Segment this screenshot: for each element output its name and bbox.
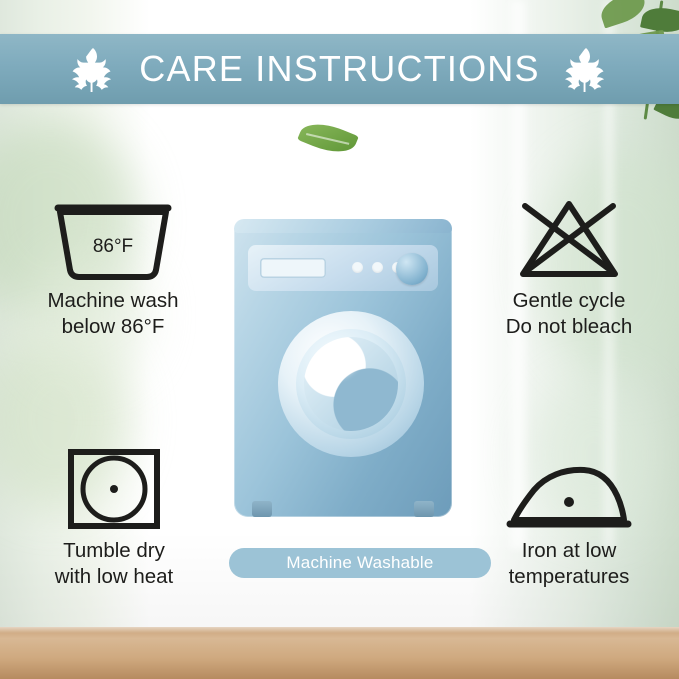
- washing-machine-illustration: [226, 205, 460, 535]
- care-item-tumble-dry: Tumble dry with low heat: [12, 446, 216, 590]
- washer-foot-left: [252, 501, 272, 517]
- care-item-do-not-bleach: Gentle cycle Do not bleach: [466, 196, 672, 340]
- wooden-table-surface: [0, 627, 679, 679]
- washer-display: [260, 258, 326, 278]
- washer-door-highlight: [312, 337, 365, 384]
- wash-tub-temperature: 86°F: [52, 236, 174, 258]
- care-item-do-not-bleach-label: Gentle cycle Do not bleach: [506, 288, 633, 340]
- wash-tub-icon: 86°F: [52, 196, 174, 280]
- washer-body: [234, 219, 452, 517]
- washer-foot-right: [414, 501, 434, 517]
- iron-icon: [506, 446, 632, 530]
- care-item-iron: Iron at low temperatures: [466, 446, 672, 590]
- washer-top-lid: [234, 219, 452, 233]
- washer-drum-swirl: [304, 337, 398, 431]
- care-item-iron-label: Iron at low temperatures: [509, 538, 630, 590]
- washer-indicator-1: [352, 262, 363, 273]
- care-item-tumble-dry-label: Tumble dry with low heat: [55, 538, 174, 590]
- page-title: CARE INSTRUCTIONS: [139, 48, 539, 90]
- machine-washable-badge: Machine Washable: [229, 548, 491, 578]
- care-instructions-banner: CARE INSTRUCTIONS: [0, 34, 679, 104]
- fleur-de-lis-ornament-left: [65, 46, 121, 92]
- washer-door: [278, 311, 424, 457]
- washer-control-panel: [248, 245, 438, 291]
- washer-program-dial: [396, 253, 428, 285]
- tumble-dry-glyph: [62, 446, 166, 530]
- do-not-bleach-triangle-icon: [513, 196, 625, 280]
- washer-indicator-2: [372, 262, 383, 273]
- do-not-bleach-glyph: [513, 196, 625, 280]
- fleur-de-lis-ornament-right: [558, 46, 614, 92]
- care-item-machine-wash: 86°F Machine wash below 86°F: [8, 196, 218, 340]
- tumble-dry-square-circle-icon: [62, 446, 166, 530]
- iron-glyph: [506, 446, 632, 530]
- care-item-machine-wash-label: Machine wash below 86°F: [47, 288, 178, 340]
- washer-door-glass: [296, 329, 406, 439]
